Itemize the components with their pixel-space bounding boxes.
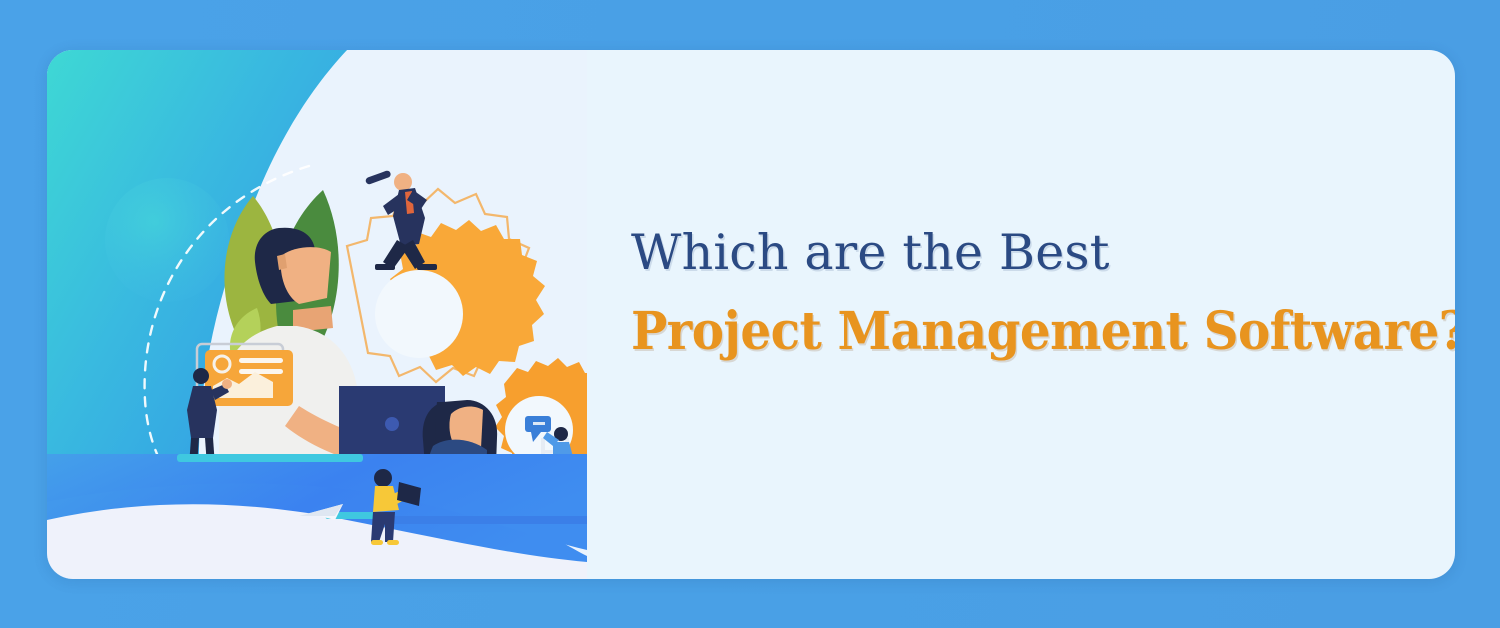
banner-card: Which are the Best Project Management So… bbox=[47, 50, 1455, 579]
headline-line-2: Project Management Software? bbox=[631, 306, 1394, 358]
headline: Which are the Best Project Management So… bbox=[631, 228, 1451, 358]
illustration-svg bbox=[47, 50, 587, 579]
headline-line-1: Which are the Best bbox=[631, 228, 1451, 277]
illustration bbox=[47, 50, 587, 579]
banner: Which are the Best Project Management So… bbox=[0, 0, 1500, 628]
copy-panel: Which are the Best Project Management So… bbox=[587, 50, 1455, 579]
platform-right bbox=[377, 516, 587, 524]
platform-left bbox=[177, 454, 363, 462]
